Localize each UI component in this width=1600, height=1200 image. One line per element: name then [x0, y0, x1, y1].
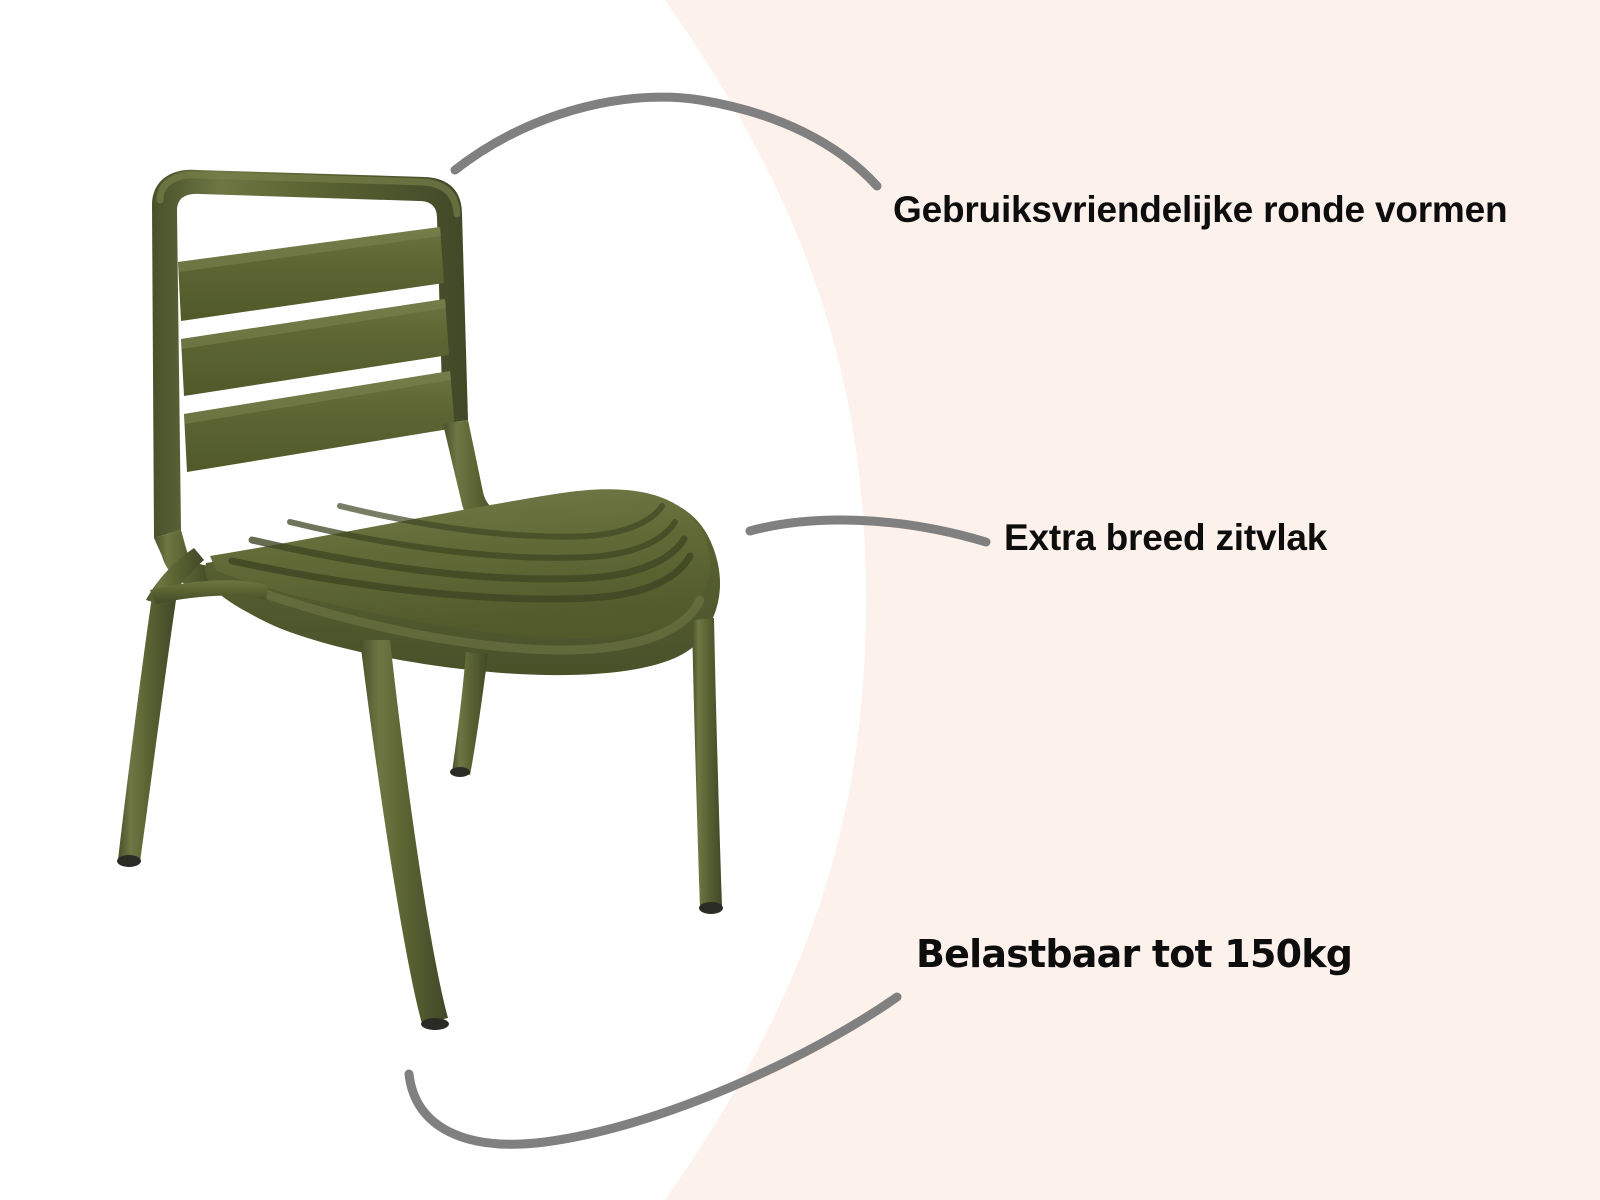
foot-cap-rear-left — [421, 1018, 449, 1030]
foot-cap-front-right — [699, 902, 723, 914]
foot-cap-middle — [450, 767, 470, 777]
leg-rear-left — [360, 640, 448, 1024]
product-image-chair — [0, 0, 1600, 1200]
callout-label-wide-seat: Extra breed zitvlak — [1004, 518, 1327, 559]
callout-label-rounded-shapes: Gebruiksvriendelijke ronde vormen — [893, 190, 1507, 231]
leg-front-right — [692, 618, 722, 908]
infographic-canvas: Gebruiksvriendelijke ronde vormen Extra … — [0, 0, 1600, 1200]
foot-cap-front-left — [117, 855, 141, 867]
callout-label-load-capacity: Belastbaar tot 150kg — [916, 934, 1352, 976]
leg-front-left — [118, 596, 176, 862]
leg-middle — [452, 652, 488, 775]
